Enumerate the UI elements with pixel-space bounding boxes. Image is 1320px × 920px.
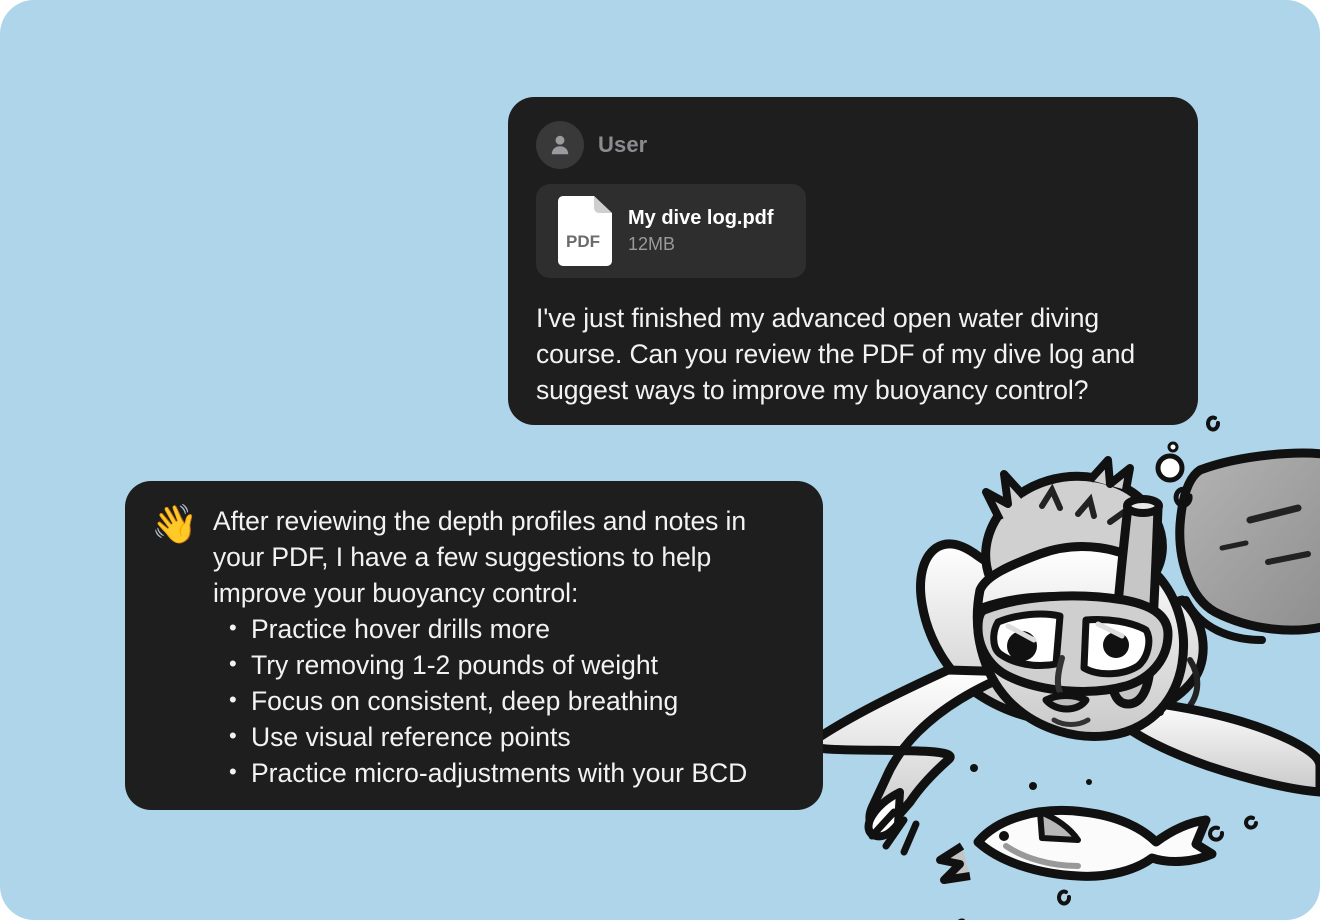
- user-name-label: User: [598, 132, 647, 158]
- user-message-text: I've just finished my advanced open wate…: [536, 300, 1170, 408]
- list-item: Focus on consistent, deep breathing: [251, 683, 797, 719]
- fish-illustration: [940, 810, 1212, 880]
- attachment-meta: My dive log.pdf 12MB: [628, 207, 774, 255]
- assistant-intro-text: After reviewing the depth profiles and n…: [213, 503, 797, 611]
- attachment-file-size: 12MB: [628, 234, 774, 255]
- assistant-body: 👋 After reviewing the depth profiles and…: [151, 503, 797, 791]
- pdf-file-icon: PDF: [554, 196, 612, 266]
- person-icon: [536, 121, 584, 169]
- user-message-bubble: User PDF My dive log.pdf 12MB I've just …: [508, 97, 1198, 425]
- list-item: Practice micro-adjustments with your BCD: [251, 755, 797, 791]
- assistant-message-bubble: 👋 After reviewing the depth profiles and…: [125, 481, 823, 810]
- list-item: Practice hover drills more: [251, 611, 797, 647]
- snorkeler-figure: [810, 453, 1320, 852]
- svg-text:PDF: PDF: [566, 232, 600, 251]
- suggestion-list: Practice hover drills more Try removing …: [213, 611, 797, 791]
- list-item: Use visual reference points: [251, 719, 797, 755]
- chat-illustration-canvas: User PDF My dive log.pdf 12MB I've just …: [0, 0, 1320, 920]
- air-bubbles: [957, 401, 1256, 920]
- attachment-file-name: My dive log.pdf: [628, 207, 774, 230]
- attachment-card[interactable]: PDF My dive log.pdf 12MB: [536, 184, 806, 278]
- list-item: Try removing 1-2 pounds of weight: [251, 647, 797, 683]
- waving-hand-emoji: 👋: [151, 503, 213, 791]
- user-header: User: [536, 121, 1170, 169]
